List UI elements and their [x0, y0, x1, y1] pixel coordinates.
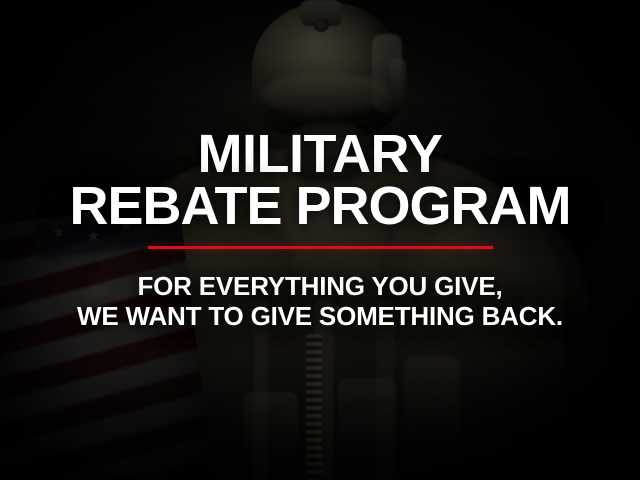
red-divider-rule [148, 246, 493, 249]
military-rebate-banner: ★ ★ ★ ★ ★ ★ MILITARY REBATE PROGRAM FOR … [0, 0, 640, 480]
headline-line-2: REBATE PROGRAM [69, 180, 570, 232]
headline-line-1: MILITARY [198, 124, 443, 184]
headline: MILITARY REBATE PROGRAM [69, 128, 570, 233]
subheadline: FOR EVERYTHING YOU GIVE, WE WANT TO GIVE… [77, 271, 563, 331]
subheadline-line-1: FOR EVERYTHING YOU GIVE, [137, 271, 502, 301]
subheadline-line-2: WE WANT TO GIVE SOMETHING BACK. [77, 301, 563, 331]
banner-content: MILITARY REBATE PROGRAM FOR EVERYTHING Y… [0, 0, 640, 480]
